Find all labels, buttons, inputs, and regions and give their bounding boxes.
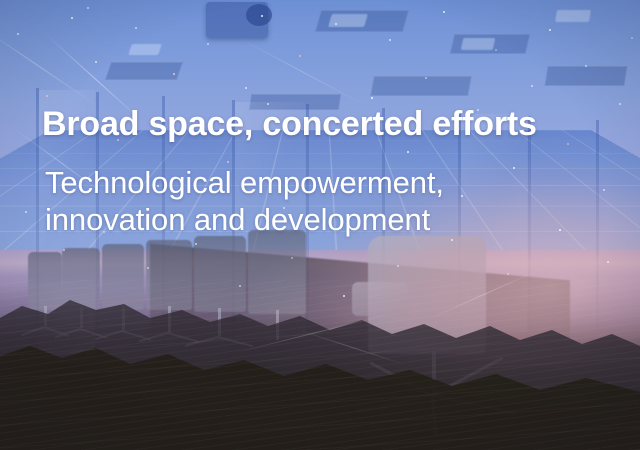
- hero-subtitle-line-1: Technological empowerment,: [45, 165, 444, 200]
- hero-subtitle: Technological empowerment, innovation an…: [42, 144, 602, 238]
- hero-banner: Broad space, concerted efforts Technolog…: [0, 0, 640, 450]
- hero-text-block: Broad space, concerted efforts Technolog…: [42, 104, 602, 238]
- hero-subtitle-line-2: innovation and development: [45, 202, 430, 237]
- page-title: Broad space, concerted efforts: [42, 104, 602, 144]
